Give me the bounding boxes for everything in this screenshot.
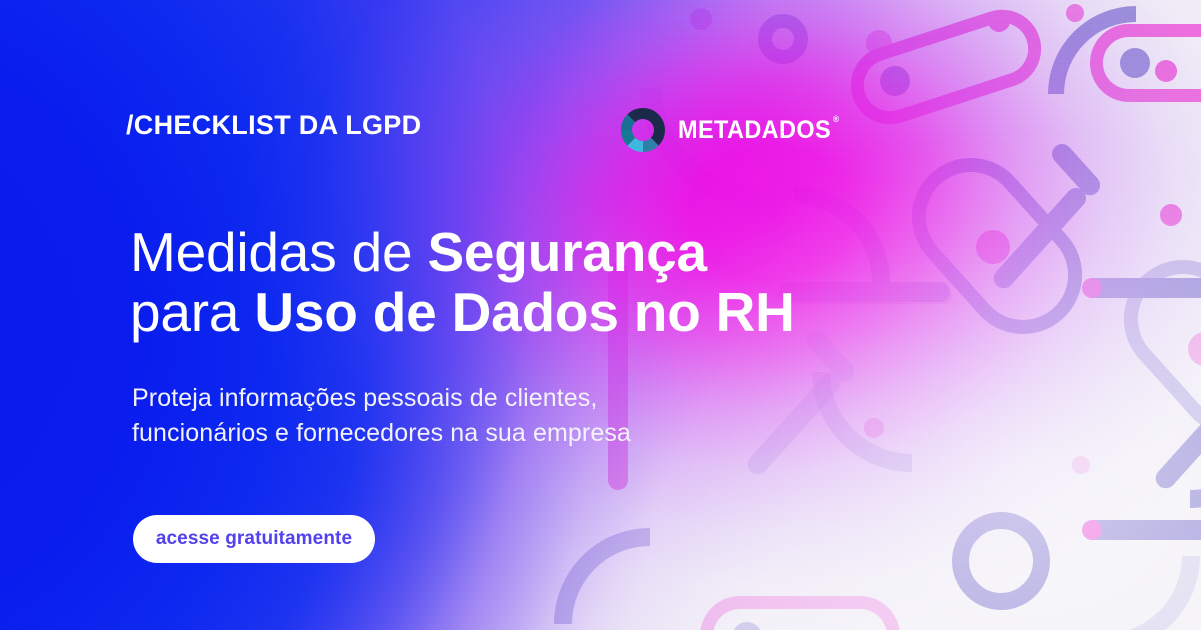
subtitle-line-2: funcionários e fornecedores na sua empre… (132, 416, 631, 451)
headline-line1-bold: Segurança (427, 221, 706, 283)
trademark-icon: ® (833, 114, 840, 124)
subtitle-line-1: Proteja informações pessoais de clientes… (132, 384, 597, 412)
metadados-logo[interactable]: METADADOS ® (619, 106, 841, 154)
banner-content: /CHECKLIST DA LGPD METADADOS ® (0, 0, 1201, 630)
metadados-ring-logo-icon (619, 106, 667, 154)
metadados-wordmark: METADADOS ® (678, 116, 831, 145)
headline-line1-regular: Medidas de (130, 221, 427, 283)
headline-line2-bold: Uso de Dados no RH (254, 281, 794, 343)
access-free-button-label: acesse gratuitamente (156, 528, 352, 550)
page-title: Medidas de Segurança para Uso de Dados n… (130, 222, 795, 342)
metadados-wordmark-text: METADADOS (678, 116, 831, 144)
eyebrow-label: /CHECKLIST DA LGPD (126, 110, 421, 141)
headline-line2-regular: para (130, 281, 254, 343)
access-free-button[interactable]: acesse gratuitamente (133, 515, 375, 563)
subtitle-text: Proteja informações pessoais de clientes… (132, 381, 631, 451)
lgpd-checklist-banner: /CHECKLIST DA LGPD METADADOS ® (0, 0, 1201, 630)
